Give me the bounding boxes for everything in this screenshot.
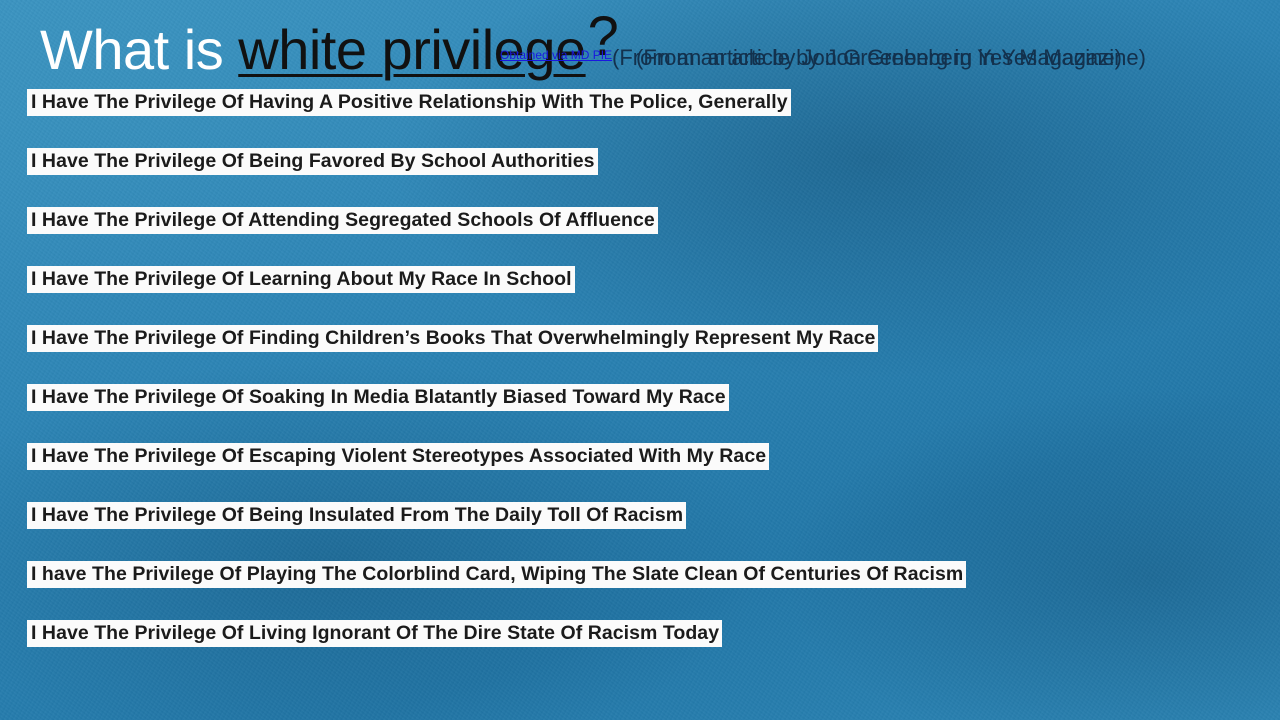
list-item-text: I Have The Privilege Of Finding Children… — [28, 326, 877, 351]
obtained-via-md-pie-link[interactable]: Obtained via MD PIE — [500, 48, 612, 62]
list-item: I Have The Privilege Of Learning About M… — [28, 265, 1258, 294]
list-item: I Have The Privilege Of Being Favored By… — [28, 147, 1258, 176]
list-item-text: I Have The Privilege Of Attending Segreg… — [28, 208, 657, 233]
list-item-text: I Have The Privilege Of Being Insulated … — [28, 503, 685, 528]
list-item-text: I Have The Privilege Of Having A Positiv… — [28, 90, 790, 115]
list-item-text: I Have The Privilege Of Learning About M… — [28, 267, 574, 292]
privilege-statement-list: I Have The Privilege Of Having A Positiv… — [28, 88, 1258, 678]
subtitle-source-attribution-duplicate: (From an article by Jon Greenberg in Yes… — [636, 44, 1146, 72]
list-item: I Have The Privilege Of Finding Children… — [28, 324, 1258, 353]
list-item-text: I Have The Privilege Of Being Favored By… — [28, 149, 597, 174]
list-item: I Have The Privilege Of Having A Positiv… — [28, 88, 1258, 117]
slide-title: What is white privilege? — [40, 8, 619, 78]
list-item: I Have The Privilege Of Escaping Violent… — [28, 442, 1258, 471]
list-item-text: I Have The Privilege Of Living Ignorant … — [28, 621, 721, 646]
list-item: I Have The Privilege Of Attending Segreg… — [28, 206, 1258, 235]
slide-canvas: What is white privilege? Obtained via MD… — [0, 0, 1280, 720]
list-item: I Have The Privilege Of Living Ignorant … — [28, 619, 1258, 648]
list-item-text: I have The Privilege Of Playing The Colo… — [28, 562, 965, 587]
title-lead-text: What is — [40, 18, 238, 81]
list-item: I Have The Privilege Of Being Insulated … — [28, 501, 1258, 530]
list-item: I Have The Privilege Of Soaking In Media… — [28, 383, 1258, 412]
list-item: I have The Privilege Of Playing The Colo… — [28, 560, 1258, 589]
list-item-text: I Have The Privilege Of Escaping Violent… — [28, 444, 768, 469]
list-item-text: I Have The Privilege Of Soaking In Media… — [28, 385, 728, 410]
